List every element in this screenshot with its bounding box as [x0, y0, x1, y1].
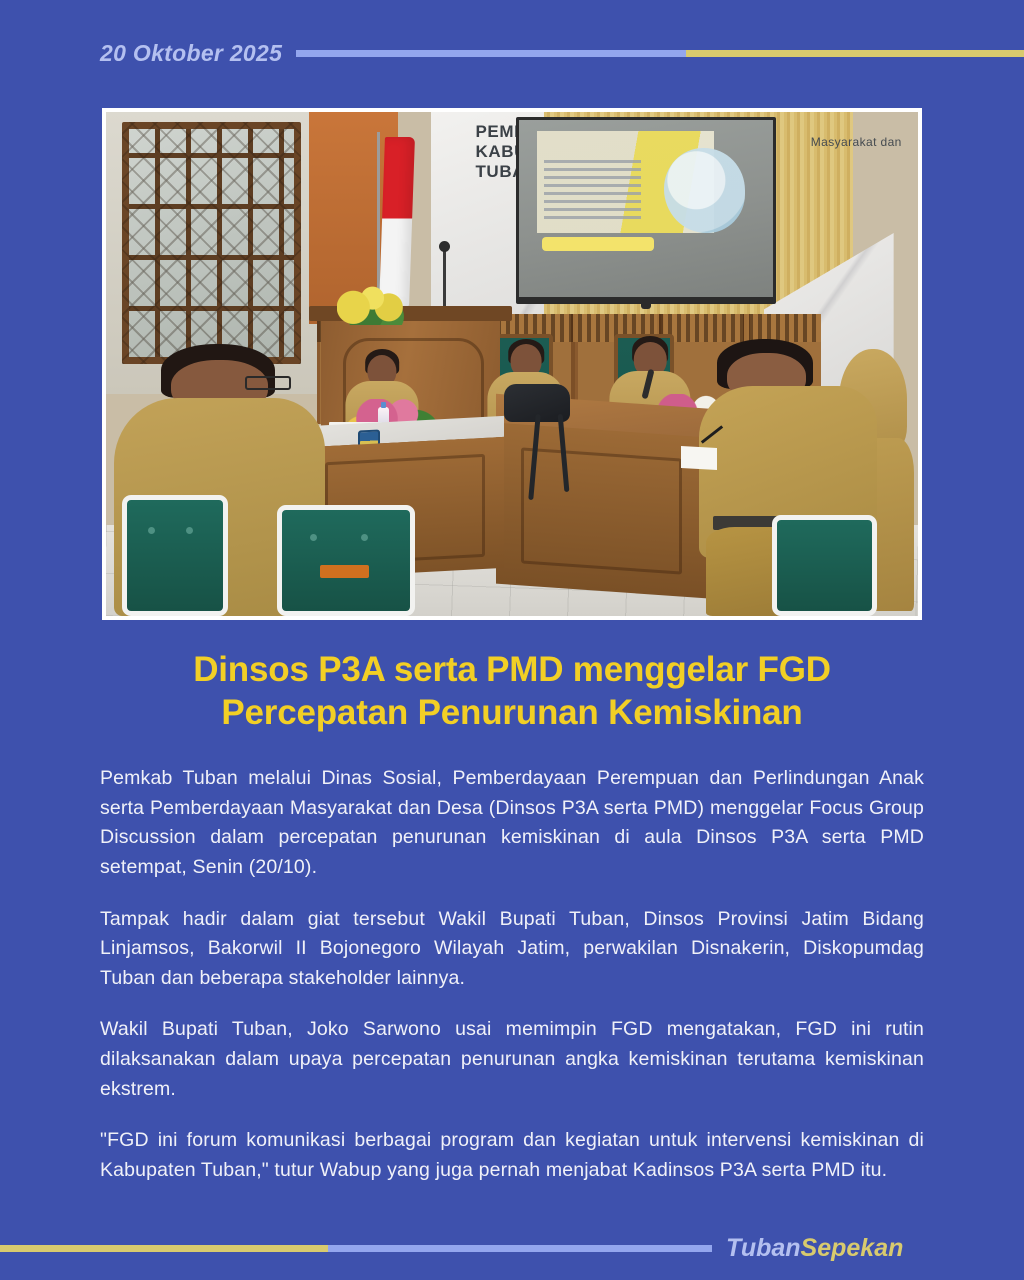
- chair-stud: [361, 534, 368, 541]
- slide-text-lines: [544, 159, 640, 219]
- brand-logo: TubanSepekan: [726, 1236, 903, 1261]
- chair-stud: [148, 527, 155, 534]
- brand-logo-part-2: Sepekan: [801, 1234, 904, 1262]
- footer-rule-blue: [328, 1245, 712, 1252]
- article-title-line-2: Percepatan Penurunan Kemiskinan: [64, 691, 960, 734]
- green-chair-foreground-2: [277, 505, 415, 616]
- article-body: Pemkab Tuban melalui Dinas Sosial, Pembe…: [100, 764, 924, 1186]
- podium-microphone: [443, 248, 446, 306]
- indonesian-flag: [379, 137, 415, 307]
- header-rule-gold: [686, 50, 1024, 57]
- slide-highlight-bar: [542, 237, 654, 251]
- article-paragraph: "FGD ini forum komunikasi berbagai progr…: [100, 1126, 924, 1185]
- page-footer: TubanSepekan: [0, 1208, 1024, 1280]
- brand-logo-part-1: Tuban: [726, 1234, 801, 1262]
- article-paragraph: Tampak hadir dalam giat tersebut Wakil B…: [100, 905, 924, 994]
- podium-flowers: [337, 283, 411, 325]
- date-row: 20 Oktober 2025: [100, 42, 1024, 65]
- projector-screen-frame: [516, 117, 776, 303]
- chair-brand-tag: [320, 565, 369, 578]
- chair-stud: [186, 527, 193, 534]
- article-photo-frame: PEMERINTAH KABUPATEN TUBAN Masyarakat da…: [102, 108, 922, 620]
- slide-graphic: [664, 148, 745, 233]
- page-header: 20 Oktober 2025: [0, 0, 1024, 98]
- side-wall-sign: Masyarakat dan: [811, 135, 902, 149]
- green-chair-foreground-1: [122, 495, 228, 616]
- article-photo: PEMERINTAH KABUPATEN TUBAN Masyarakat da…: [106, 112, 918, 616]
- publication-date: 20 Oktober 2025: [100, 42, 282, 65]
- chair-stud: [310, 534, 317, 541]
- notepad: [681, 446, 717, 470]
- eyeglasses: [245, 376, 291, 390]
- screen-bottom-weight: [641, 300, 651, 309]
- footer-row: TubanSepekan: [0, 1236, 1024, 1261]
- window-grille: [122, 122, 301, 364]
- projector-screen: [519, 120, 773, 296]
- article-title: Dinsos P3A serta PMD menggelar FGD Perce…: [64, 648, 960, 734]
- header-rule-blue: [296, 50, 686, 57]
- foreground-desk-right-body: [496, 422, 707, 598]
- footer-rule-gold: [0, 1245, 328, 1252]
- article-paragraph: Wakil Bupati Tuban, Joko Sarwono usai me…: [100, 1015, 924, 1104]
- green-chair-foreground-3: [772, 515, 878, 616]
- article-paragraph: Pemkab Tuban melalui Dinas Sosial, Pembe…: [100, 764, 924, 883]
- article-title-line-1: Dinsos P3A serta PMD menggelar FGD: [64, 648, 960, 691]
